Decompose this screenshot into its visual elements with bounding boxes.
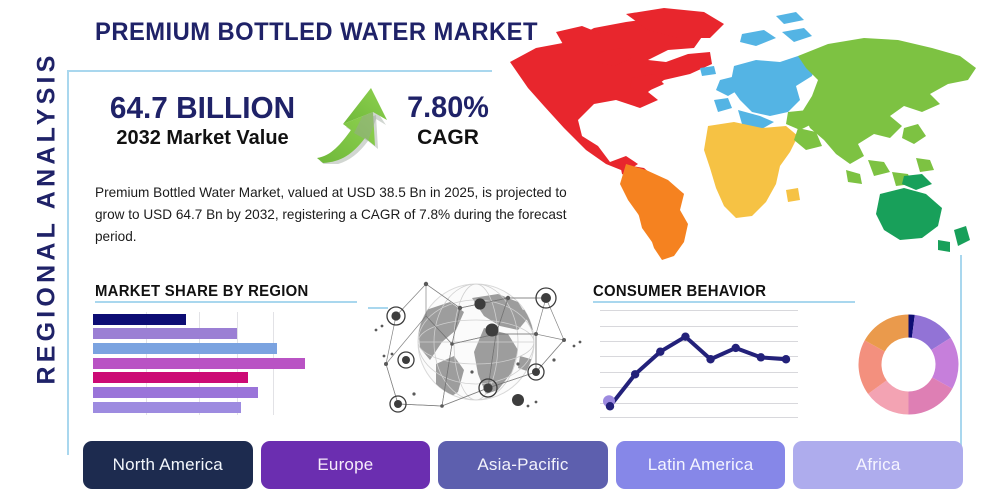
bar-row [93,387,305,398]
market-value-caption: 2032 Market Value [95,127,310,150]
bar-row [93,358,305,369]
bar-row [93,402,305,413]
consumer-behavior-heading: CONSUMER BEHAVIOR [593,283,766,301]
region-pill-label: North America [113,455,223,475]
bar-row [93,314,305,325]
infographic-root: REGIONAL ANALYSIS PREMIUM BOTTLED WATER … [0,0,1000,500]
bar-segment [93,314,186,325]
line-data-point [732,344,740,352]
map-region-africa [704,122,800,218]
bar-segment [93,358,305,369]
region-pill-label: Latin America [648,455,754,475]
region-pill-label: Europe [317,455,373,475]
region-pill-asia-pacific[interactable]: Asia-Pacific [438,441,608,489]
region-pill-label: Asia-Pacific [477,455,568,475]
map-region-north-america [510,8,724,196]
region-pill-europe[interactable]: Europe [261,441,431,489]
global-network-illustration [368,268,583,420]
line-data-point [656,348,664,356]
map-region-south-america [620,164,688,260]
market-share-bar-chart [93,312,305,415]
growth-arrow-icon [313,86,393,164]
consumer-behavior-line-chart [600,308,798,418]
line-data-point [631,370,639,378]
map-region-asia [786,38,976,186]
bar-segment [93,372,248,383]
bar-row [93,372,305,383]
region-pill-north-america[interactable]: North America [83,441,253,489]
market-value-kpi: 64.7 BILLION 2032 Market Value [95,92,310,150]
market-share-heading: MARKET SHARE BY REGION [95,283,309,301]
bar-row [93,343,305,354]
consumer-behavior-rule [593,301,855,303]
line-data-point [606,402,614,410]
bar-segment [93,402,241,413]
page-title: PREMIUM BOTTLED WATER MARKET [95,18,538,47]
line-data-point [757,353,765,361]
region-pill-africa[interactable]: Africa [793,441,963,489]
region-pill-label: Africa [856,455,901,475]
bar-segment [93,343,277,354]
cagr-number: 7.80% [386,92,511,124]
vertical-section-label: REGIONAL ANALYSIS [33,55,62,385]
cagr-kpi: 7.80% CAGR [383,92,513,150]
market-value-number: 64.7 BILLION [99,92,305,125]
bar-row [93,328,305,339]
region-pill-latin-america[interactable]: Latin America [616,441,786,489]
regional-share-donut-chart [856,312,961,417]
world-map [498,4,998,266]
map-region-oceania [876,174,970,252]
line-data-point [782,355,790,363]
bar-segment [93,328,237,339]
cagr-caption: CAGR [383,126,513,150]
market-share-rule [95,301,357,303]
kpi-row: 64.7 BILLION 2032 Market Value 7.80% CAG… [95,92,515,164]
bar-segment [93,387,258,398]
line-data-point [681,332,689,340]
line-data-point [706,355,714,363]
region-pill-strip: North AmericaEuropeAsia-PacificLatin Ame… [83,441,963,489]
